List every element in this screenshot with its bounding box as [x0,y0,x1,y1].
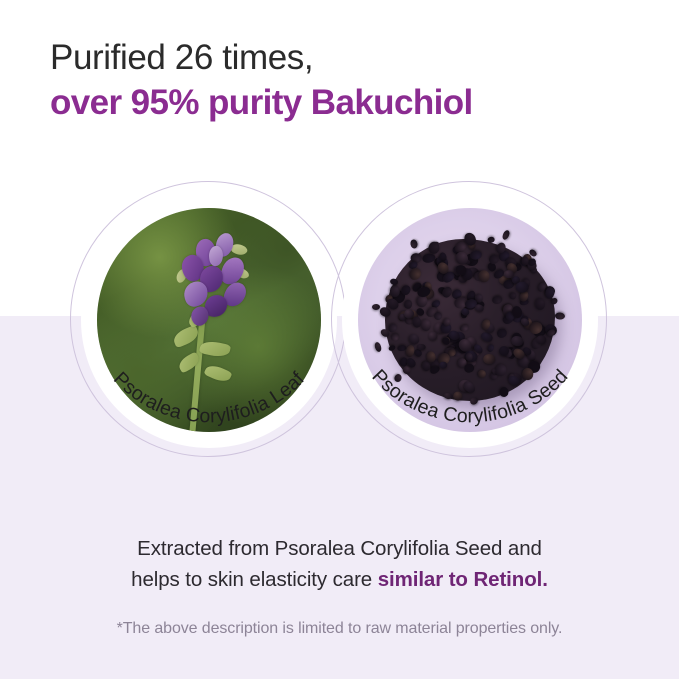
description-highlight: similar to Retinol. [378,568,548,591]
seed-kernel-stray [410,239,419,249]
description-line-1: Extracted from Psoralea Corylifolia Seed… [0,533,679,564]
leaf-photo-disc [97,208,321,432]
footnote-text: *The above description is limited to raw… [0,618,679,640]
leaf-bract [203,362,232,384]
seed-kernel-stray [554,312,565,320]
seed-kernel-stray [374,341,383,352]
flower-petal [208,245,224,266]
seed-kernel [536,335,546,344]
seed-kernel [483,354,495,364]
seed-kernel [516,281,529,292]
seed-kernel [499,386,509,397]
seed-kernel [491,295,502,304]
leaf-bract [199,339,231,359]
seed-photo-disc [358,208,582,432]
figure-leaf: Psoralea Corylifolia Leaf [70,181,348,459]
seed-kernel [522,368,533,380]
description-line-2: helps to skin elasticity care similar to… [0,564,679,595]
seed-kernel-stray [394,373,403,383]
leaf-photo-image [97,208,321,432]
seed-kernel [503,270,513,278]
seed-kernel [390,285,400,297]
seed-kernel [487,237,495,244]
description-line-2-prefix: helps to skin elasticity care [131,568,378,591]
description-block: Extracted from Psoralea Corylifolia Seed… [0,533,679,595]
seed-kernel-stray [372,304,380,310]
seed-kernel [416,344,425,351]
seed-photo-image [358,208,582,432]
figure-seed: Psoralea Corylifolia Seed [331,181,609,459]
seed-kernel [428,331,437,340]
promo-banner: Purified 26 times, over 95% purity Bakuc… [0,0,679,679]
seed-kernel [535,298,545,310]
seed-kernel-stray [501,229,511,241]
